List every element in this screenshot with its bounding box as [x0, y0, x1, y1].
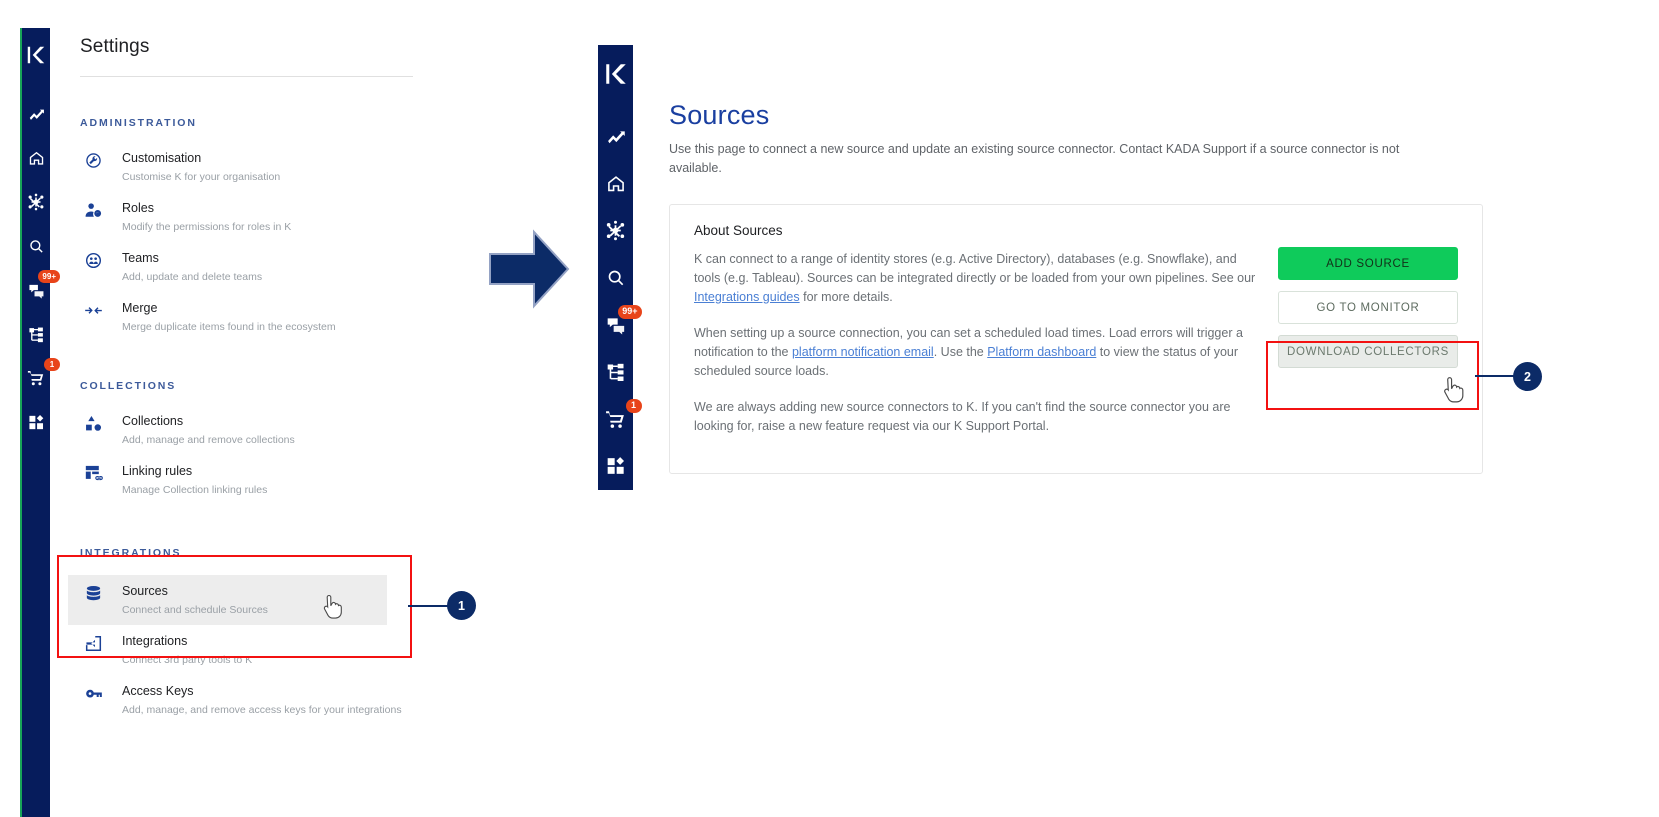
search-icon[interactable] — [603, 265, 629, 290]
settings-row-collections[interactable]: Collections Add, manage and remove colle… — [68, 405, 466, 455]
settings-row-title: Integrations — [122, 634, 187, 648]
key-icon — [84, 682, 108, 703]
settings-row-subtitle: Add, manage, and remove access keys for … — [122, 704, 402, 716]
about-p2-text-b: . Use the — [934, 345, 988, 359]
settings-row-linking-rules[interactable]: Linking rules Manage Collection linking … — [68, 455, 466, 505]
settings-row-subtitle: Connect and schedule Sources — [122, 604, 268, 616]
go-to-monitor-button[interactable]: GO TO MONITOR — [1278, 291, 1458, 324]
settings-row-title: Roles — [122, 201, 154, 215]
merge-arrows-icon — [84, 299, 108, 320]
transition-arrow-icon — [486, 228, 572, 315]
conversation-icon[interactable]: 99+ — [23, 277, 49, 303]
settings-row-subtitle: Customise K for your organisation — [122, 171, 280, 183]
about-paragraph-3: We are always adding new source connecto… — [694, 398, 1266, 436]
conversation-badge: 99+ — [38, 270, 60, 283]
settings-row-subtitle: Modify the permissions for roles in K — [122, 221, 291, 233]
section-label-integrations: INTEGRATIONS — [66, 547, 466, 559]
link-rules-icon — [84, 462, 108, 483]
integrations-guides-link[interactable]: Integrations guides — [694, 290, 800, 304]
k-logo[interactable] — [603, 61, 629, 87]
page-title: Settings — [66, 22, 466, 76]
about-sources-body: K can connect to a range of identity sto… — [670, 238, 1266, 436]
settings-row-integrations[interactable]: Integrations Connect 3rd party tools to … — [68, 625, 466, 675]
settings-row-customisation[interactable]: Customisation Customise K for your organ… — [68, 142, 466, 192]
settings-panel: Settings ADMINISTRATION Customisation Cu… — [66, 22, 466, 725]
wrench-circle-icon — [84, 149, 108, 170]
settings-row-title: Teams — [122, 251, 159, 265]
conversation-icon[interactable]: 99+ — [603, 313, 629, 338]
add-source-button[interactable]: ADD SOURCE — [1278, 247, 1458, 280]
apps-icon[interactable] — [23, 409, 49, 435]
section-label-administration: ADMINISTRATION — [66, 117, 466, 129]
app-nav-rail-primary[interactable]: 99+ 1 — [20, 28, 50, 817]
about-sources-card: About Sources K can connect to a range o… — [669, 204, 1483, 474]
about-paragraph-2: When setting up a source connection, you… — [694, 324, 1266, 381]
settings-row-access-keys[interactable]: Access Keys Add, manage, and remove acce… — [68, 675, 466, 725]
callout-badge-1: 1 — [447, 591, 476, 620]
cart-icon[interactable]: 1 — [23, 365, 49, 391]
settings-row-subtitle: Connect 3rd party tools to K — [122, 654, 252, 666]
shapes-icon — [84, 412, 108, 433]
apps-icon[interactable] — [603, 454, 629, 479]
sources-title: Sources — [669, 100, 1499, 131]
conversation-badge: 99+ — [618, 305, 641, 319]
hierarchy-icon[interactable] — [23, 321, 49, 347]
settings-row-merge[interactable]: Merge Merge duplicate items found in the… — [68, 292, 466, 342]
settings-row-sources[interactable]: Sources Connect and schedule Sources — [68, 575, 387, 625]
network-icon[interactable] — [603, 218, 629, 243]
settings-row-title: Linking rules — [122, 464, 192, 478]
download-collectors-button[interactable]: DOWNLOAD COLLECTORS — [1278, 335, 1458, 368]
trend-icon[interactable] — [23, 101, 49, 127]
hierarchy-icon[interactable] — [603, 360, 629, 385]
k-logo[interactable] — [25, 44, 47, 66]
mouse-cursor-pointer — [323, 593, 345, 626]
home-icon[interactable] — [23, 145, 49, 171]
about-p1-text-b: for more details. — [800, 290, 893, 304]
app-nav-rail-secondary[interactable]: 99+ 1 — [598, 45, 633, 490]
trend-icon[interactable] — [603, 124, 629, 149]
integration-arrow-icon — [84, 632, 108, 653]
cart-badge: 1 — [626, 399, 642, 413]
sources-page: Sources Use this page to connect a new s… — [669, 100, 1499, 474]
callout-line-1 — [408, 605, 450, 607]
callout-badge-2: 2 — [1513, 362, 1542, 391]
card-action-buttons: ADD SOURCE GO TO MONITOR DOWNLOAD COLLEC… — [1278, 247, 1458, 379]
settings-row-subtitle: Add, update and delete teams — [122, 271, 262, 283]
settings-row-title: Merge — [122, 301, 157, 315]
settings-row-subtitle: Manage Collection linking rules — [122, 484, 267, 496]
person-gear-icon — [84, 199, 108, 220]
settings-row-subtitle: Add, manage and remove collections — [122, 434, 295, 446]
section-label-collections: COLLECTIONS — [66, 380, 466, 392]
cart-badge: 1 — [44, 358, 60, 371]
settings-row-subtitle: Merge duplicate items found in the ecosy… — [122, 321, 336, 333]
database-icon — [84, 582, 108, 603]
settings-row-title: Collections — [122, 414, 183, 428]
about-p1-text-a: K can connect to a range of identity sto… — [694, 252, 1255, 285]
about-paragraph-1: K can connect to a range of identity sto… — [694, 250, 1266, 307]
platform-notification-email-link[interactable]: platform notification email — [792, 345, 934, 359]
about-sources-heading: About Sources — [670, 205, 1482, 238]
sources-description: Use this page to connect a new source an… — [669, 140, 1449, 178]
settings-row-teams[interactable]: Teams Add, update and delete teams — [68, 242, 466, 292]
cart-icon[interactable]: 1 — [603, 407, 629, 432]
search-icon[interactable] — [23, 233, 49, 259]
home-icon[interactable] — [603, 171, 629, 196]
settings-row-roles[interactable]: Roles Modify the permissions for roles i… — [68, 192, 466, 242]
settings-row-title: Customisation — [122, 151, 201, 165]
network-icon[interactable] — [23, 189, 49, 215]
settings-row-title: Sources — [122, 584, 168, 598]
callout-line-2 — [1475, 375, 1515, 377]
platform-dashboard-link[interactable]: Platform dashboard — [987, 345, 1096, 359]
teams-icon — [84, 249, 108, 270]
settings-row-title: Access Keys — [122, 684, 194, 698]
